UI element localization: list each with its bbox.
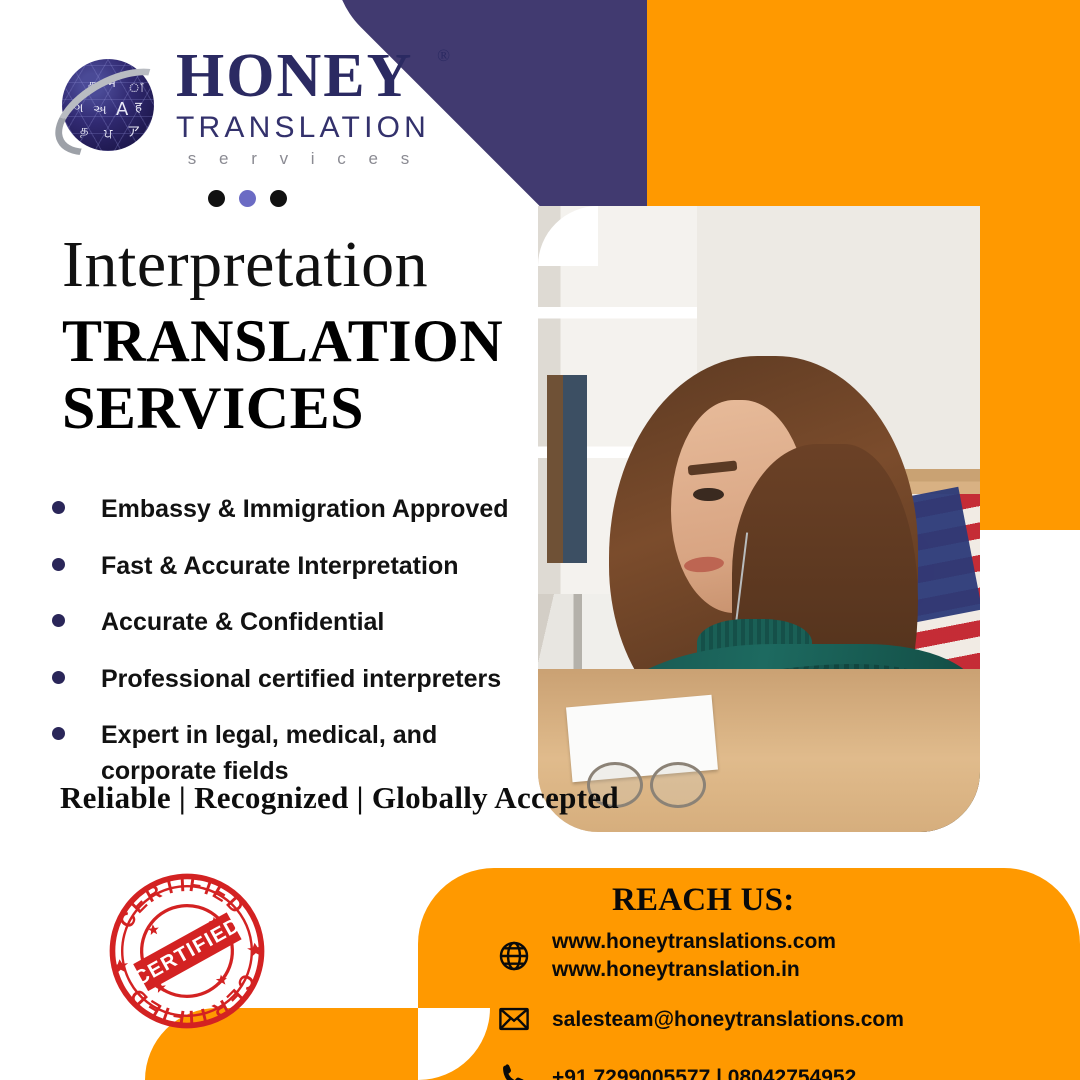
contact-row-phone[interactable]: +91 7299005577 | 08042754952 bbox=[492, 1055, 904, 1080]
list-item-label: Accurate & Confidential bbox=[101, 605, 384, 641]
headline-main-line-2: SERVICES bbox=[62, 375, 503, 442]
logo-wordmark: HONEY® TRANSLATION s e r v i c e s bbox=[176, 45, 430, 167]
dot-3 bbox=[270, 190, 287, 207]
contact-row-email[interactable]: salesteam@honeytranslations.com bbox=[492, 997, 904, 1041]
list-item: Professional certified interpreters bbox=[52, 662, 522, 698]
website-primary[interactable]: www.honeytranslations.com bbox=[552, 928, 836, 956]
globe-icon bbox=[492, 934, 536, 978]
envelope-icon bbox=[492, 997, 536, 1041]
photo-book bbox=[547, 375, 587, 563]
photo-subject-eye bbox=[693, 488, 724, 502]
brand-logo: க म া ગ અ A ह த ਪ ア HONEY® TRANSLATION s… bbox=[52, 45, 430, 167]
list-item-label: Fast & Accurate Interpretation bbox=[101, 549, 458, 585]
feature-list: Embassy & Immigration Approved Fast & Ac… bbox=[52, 492, 522, 810]
contact-website-text: www.honeytranslations.com www.honeytrans… bbox=[552, 928, 836, 983]
list-item: Accurate & Confidential bbox=[52, 605, 522, 641]
svg-text:CERTIFIED: CERTIFIED bbox=[130, 914, 244, 991]
list-item-label: Professional certified interpreters bbox=[101, 662, 501, 698]
poster-canvas: க म া ગ અ A ह த ਪ ア HONEY® TRANSLATION s… bbox=[0, 0, 1080, 1080]
bullet-dot-icon bbox=[52, 558, 65, 571]
bullet-dot-icon bbox=[52, 727, 65, 740]
dot-2 bbox=[239, 190, 256, 207]
list-item-label: Expert in legal, medical, and corporate … bbox=[101, 718, 461, 789]
hero-photo bbox=[538, 206, 980, 832]
contact-details: www.honeytranslations.com www.honeytrans… bbox=[492, 928, 904, 1080]
headline-script-line: Interpretation bbox=[62, 232, 503, 298]
list-item: Expert in legal, medical, and corporate … bbox=[52, 718, 522, 789]
phone-numbers[interactable]: +91 7299005577 | 08042754952 bbox=[552, 1064, 856, 1080]
tagline: Reliable | Recognized | Globally Accepte… bbox=[60, 780, 619, 816]
logo-name-main: HONEY® bbox=[176, 45, 430, 107]
dot-1 bbox=[208, 190, 225, 207]
decorative-dots bbox=[208, 190, 287, 207]
phone-icon bbox=[492, 1055, 536, 1080]
contact-heading: REACH US: bbox=[612, 882, 794, 919]
headline-main-line-1: TRANSLATION bbox=[62, 308, 503, 375]
list-item: Fast & Accurate Interpretation bbox=[52, 549, 522, 585]
globe-logo-icon: க म া ગ અ A ह த ਪ ア bbox=[52, 51, 162, 161]
bullet-dot-icon bbox=[52, 501, 65, 514]
page-title: Interpretation TRANSLATION SERVICES bbox=[62, 232, 503, 442]
certified-stamp-icon: CERTIFIED CERTIFIED CERTIFIED bbox=[97, 861, 278, 1042]
logo-name-main-text: HONEY bbox=[176, 42, 413, 110]
email-address[interactable]: salesteam@honeytranslations.com bbox=[552, 1006, 904, 1034]
logo-name-second: TRANSLATION bbox=[176, 113, 430, 143]
bullet-dot-icon bbox=[52, 614, 65, 627]
contact-row-website[interactable]: www.honeytranslations.com www.honeytrans… bbox=[492, 928, 904, 983]
bullet-dot-icon bbox=[52, 671, 65, 684]
list-item-label: Embassy & Immigration Approved bbox=[101, 492, 509, 528]
hero-photo-image bbox=[538, 206, 980, 832]
logo-name-third: s e r v i c e s bbox=[176, 150, 430, 167]
registered-trademark-icon: ® bbox=[437, 47, 452, 64]
website-secondary[interactable]: www.honeytranslation.in bbox=[552, 956, 836, 984]
list-item: Embassy & Immigration Approved bbox=[52, 492, 522, 528]
